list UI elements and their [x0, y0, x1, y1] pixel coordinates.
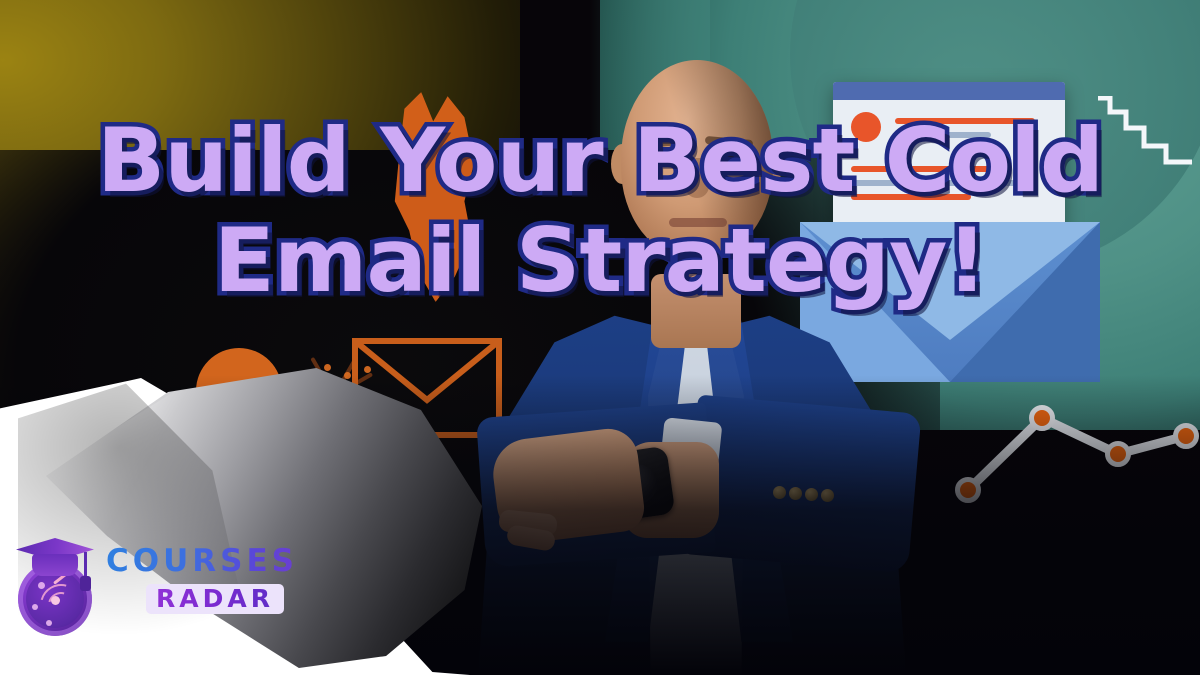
graduation-cap-base	[32, 554, 78, 576]
brand-name-secondary: RADAR	[156, 586, 274, 611]
radar-hub	[51, 596, 60, 605]
video-thumbnail: COURSES RADAR Build Your Best Cold Email…	[0, 0, 1200, 675]
brand-logo[interactable]: COURSES RADAR	[10, 528, 290, 640]
brand-wordmark: COURSES RADAR	[106, 546, 296, 614]
neck	[651, 274, 741, 348]
brand-name-primary: COURSES	[106, 546, 296, 577]
face-shading	[621, 60, 773, 258]
courses-radar-mark-icon	[10, 534, 102, 634]
zigzag-line-icon	[1096, 96, 1196, 176]
graduation-cap-tassel	[84, 552, 87, 578]
brand-name-secondary-badge: RADAR	[146, 584, 284, 614]
graduation-cap-tassel-end	[80, 576, 91, 591]
